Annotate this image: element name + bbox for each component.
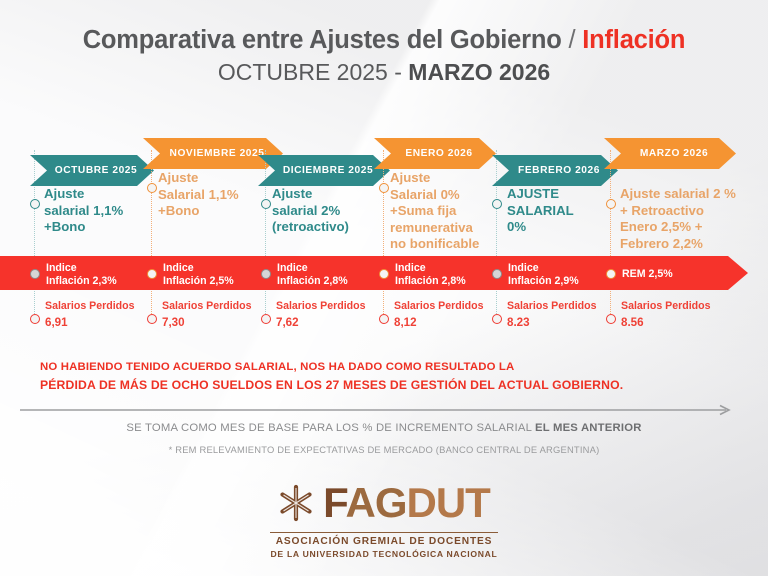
salarios-perdidos-value: 8,12 xyxy=(394,315,484,330)
salarios-perdidos-label: Salarios Perdidos xyxy=(276,300,366,312)
logo-wordmark: FAGDUT xyxy=(323,482,490,524)
logo-row: FAGDUT xyxy=(278,482,490,524)
logo-word-part2: AG xyxy=(346,479,407,526)
logo-word-part1: F xyxy=(323,479,345,526)
conclusion-line-1: NO HABIENDO TENIDO ACUERDO SALARIAL, NOS… xyxy=(40,358,623,376)
fagdut-asterisk-icon xyxy=(278,483,314,523)
salarios-perdidos-block: Salarios Perdidos8,12 xyxy=(394,300,484,330)
base-month-note: SE TOMA COMO MES DE BASE PARA LOS % DE I… xyxy=(0,422,768,434)
base-month-note-normal: SE TOMA COMO MES DE BASE PARA LOS % DE I… xyxy=(126,422,535,434)
salarios-perdidos-label: Salarios Perdidos xyxy=(507,300,597,312)
salarios-perdidos-label: Salarios Perdidos xyxy=(162,300,252,312)
divider-arrow-icon xyxy=(20,404,740,416)
salarios-perdidos-label: Salarios Perdidos xyxy=(45,300,135,312)
fagdut-logo: FAGDUT ASOCIACIÓN GREMIAL DE DOCENTES DE… xyxy=(0,482,768,560)
salarios-perdidos-block: Salarios Perdidos6,91 xyxy=(45,300,135,330)
salarios-perdidos-block: Salarios Perdidos7,62 xyxy=(276,300,366,330)
salarios-perdidos-block: Salarios Perdidos8.56 xyxy=(621,300,711,330)
logo-word-part3: DUT xyxy=(407,479,490,526)
salarios-perdidos-node-marker xyxy=(261,314,271,324)
salarios-perdidos-value: 6,91 xyxy=(45,315,135,330)
salarios-perdidos-label: Salarios Perdidos xyxy=(394,300,484,312)
salarios-perdidos-value: 8.56 xyxy=(621,315,711,330)
salarios-perdidos-node-marker xyxy=(606,314,616,324)
salarios-perdidos-label: Salarios Perdidos xyxy=(621,300,711,312)
logo-subtitle-2: DE LA UNIVERSIDAD TECNOLÓGICA NACIONAL xyxy=(0,549,768,560)
infographic-stage: Comparativa entre Ajustes del Gobierno /… xyxy=(0,0,768,576)
salarios-perdidos-node-marker xyxy=(30,314,40,324)
salarios-perdidos-node-marker xyxy=(147,314,157,324)
salarios-perdidos-value: 7,62 xyxy=(276,315,366,330)
salarios-perdidos-node-marker xyxy=(379,314,389,324)
base-month-note-bold: EL MES ANTERIOR xyxy=(535,422,642,434)
salarios-perdidos-block: Salarios Perdidos7,30 xyxy=(162,300,252,330)
salarios-perdidos-value: 7,30 xyxy=(162,315,252,330)
conclusion-note: NO HABIENDO TENIDO ACUERDO SALARIAL, NOS… xyxy=(40,358,623,396)
logo-subtitle-1: ASOCIACIÓN GREMIAL DE DOCENTES xyxy=(0,536,768,549)
salarios-perdidos-value: 8.23 xyxy=(507,315,597,330)
salarios-perdidos-node-marker xyxy=(492,314,502,324)
rem-footnote: * REM RELEVAMIENTO DE EXPECTATIVAS DE ME… xyxy=(0,444,768,455)
logo-divider xyxy=(270,532,498,533)
salarios-perdidos-block: Salarios Perdidos8.23 xyxy=(507,300,597,330)
conclusion-line-2: PÉRDIDA DE MÁS DE OCHO SUELDOS EN LOS 27… xyxy=(40,376,623,396)
